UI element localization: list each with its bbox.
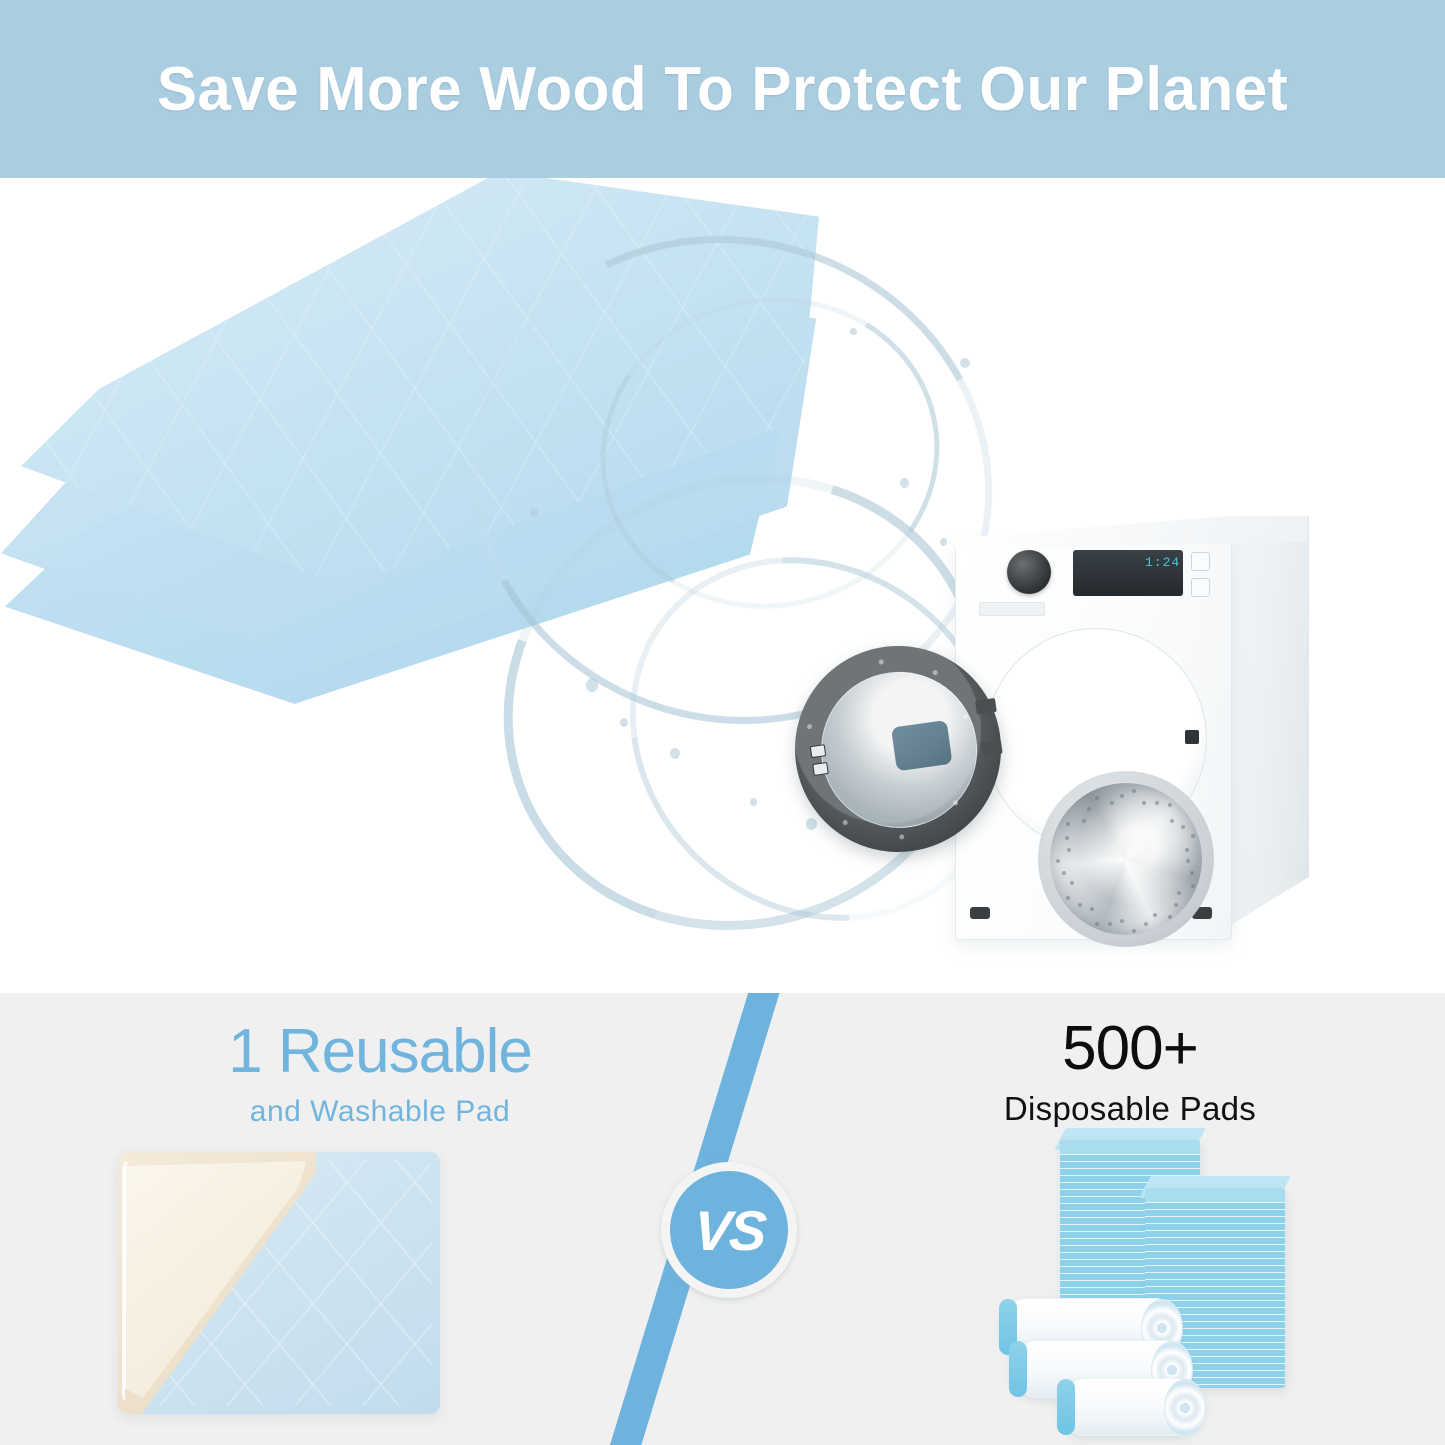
start-pause-button[interactable] (1191, 578, 1210, 597)
washing-machine-image: 1:24 (955, 508, 1310, 968)
drum-perforation (1120, 919, 1124, 923)
hero-section: 1:24 (0, 178, 1445, 993)
drum-perforation (1062, 871, 1066, 875)
roll-blue-edge (1057, 1379, 1075, 1435)
drum-perforation (1191, 834, 1195, 838)
door-latch-icon (1185, 730, 1199, 744)
drum-perforation (1095, 796, 1099, 800)
drum-perforation (1066, 896, 1070, 900)
water-droplet-icon (620, 718, 628, 727)
water-droplet-icon (750, 798, 757, 806)
drum-perforation (1132, 789, 1136, 793)
drum-perforation (1082, 819, 1086, 823)
drum-perforation (1191, 884, 1195, 888)
left-comparison-heading: 1 Reusable and Washable Pad (120, 1021, 640, 1129)
washer-side-panel (1229, 516, 1309, 926)
washer-door-opening (985, 628, 1207, 850)
drum-perforation (1144, 922, 1148, 926)
door-catch-icon (812, 762, 829, 776)
drum-perforation (1090, 907, 1094, 911)
left-subtitle: and Washable Pad (120, 1095, 640, 1129)
drum-perforation (1177, 891, 1181, 895)
header-banner: Save More Wood To Protect Our Planet (0, 0, 1445, 178)
door-catch-icon (810, 744, 827, 758)
rolled-disposable-pad (1058, 1378, 1205, 1436)
folded-reusable-pad-image (0, 178, 844, 626)
right-comparison-heading: 500+ Disposable Pads (880, 1018, 1380, 1128)
washer-door-glass (811, 662, 987, 838)
water-droplet-icon (850, 328, 857, 335)
drum-perforation (1170, 819, 1174, 823)
drum-perforation (1142, 801, 1146, 805)
drum-perforation (1067, 848, 1071, 852)
washer-foot (970, 907, 990, 919)
infographic-page: Save More Wood To Protect Our Planet (0, 0, 1445, 1445)
door-stud-icon (932, 670, 938, 676)
vs-label: VS (691, 1198, 766, 1263)
drum-perforation (1065, 836, 1069, 840)
water-droplet-icon (670, 748, 680, 759)
water-droplet-icon (530, 508, 538, 517)
door-hinge-icon (975, 698, 997, 715)
vs-badge: VS (661, 1162, 797, 1298)
drum-perforation (1087, 807, 1091, 811)
water-droplet-icon (586, 678, 598, 692)
drum-perforation (1190, 871, 1194, 875)
drum-perforation (1056, 859, 1060, 863)
drum-perforation (1066, 822, 1070, 826)
roll-spiral-end (1164, 1379, 1206, 1437)
washer-drum (1050, 783, 1202, 935)
water-droplet-icon (960, 358, 970, 368)
disposable-pads-product-image (1000, 1140, 1310, 1430)
drum-perforation (1078, 903, 1082, 907)
roll-blue-edge (1009, 1341, 1027, 1397)
drum-perforation (1153, 913, 1157, 917)
drum-perforation (1181, 825, 1185, 829)
drum-perforation (1132, 929, 1136, 933)
right-headline: 500+ (880, 1018, 1380, 1080)
drum-perforation (1185, 848, 1189, 852)
drum-perforation (1070, 881, 1074, 885)
right-subtitle: Disposable Pads (880, 1090, 1380, 1128)
water-droplet-icon (806, 818, 817, 830)
water-droplet-icon (940, 538, 947, 546)
washer-display-value: 1:24 (1145, 555, 1180, 570)
drum-perforation (1120, 794, 1124, 798)
door-stud-icon (842, 820, 848, 826)
door-stud-icon (953, 800, 959, 806)
drum-perforation (1110, 801, 1114, 805)
door-hinge-icon (981, 740, 1003, 757)
drum-perforation (1155, 801, 1159, 805)
drum-perforation (1168, 803, 1172, 807)
drum-perforation (1108, 922, 1112, 926)
water-droplet-icon (900, 478, 909, 488)
detergent-dispenser-drawer[interactable] (979, 602, 1045, 616)
reusable-pad-product-image (118, 1152, 440, 1414)
power-button[interactable] (1191, 552, 1210, 571)
drum-perforation (1174, 903, 1178, 907)
door-stud-icon (878, 659, 884, 665)
door-reflection (891, 720, 953, 771)
door-stud-icon (807, 724, 813, 730)
door-stud-icon (899, 834, 905, 840)
left-headline: 1 Reusable (120, 1021, 640, 1083)
page-title: Save More Wood To Protect Our Planet (22, 0, 1424, 178)
drum-perforation (1095, 922, 1099, 926)
drum-perforation (1186, 859, 1190, 863)
program-selector-knob[interactable] (1007, 550, 1051, 594)
drum-perforation (1168, 915, 1172, 919)
